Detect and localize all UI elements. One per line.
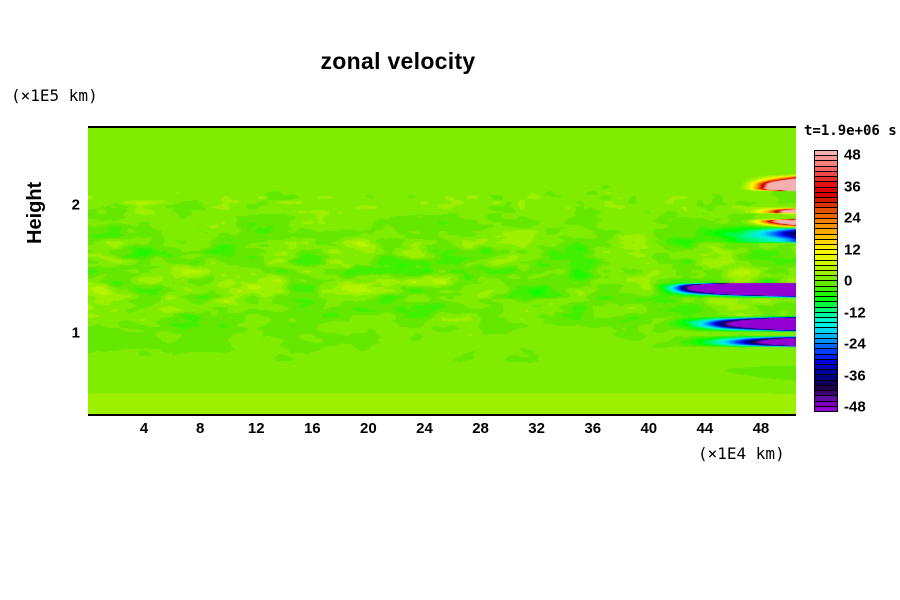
y-tick-label: 1 bbox=[72, 324, 80, 341]
colorbar-tick-label: -36 bbox=[844, 367, 866, 384]
colorbar-tick-label: -12 bbox=[844, 304, 866, 321]
colorbar-tick-label: -24 bbox=[844, 336, 866, 353]
x-tick-label: 48 bbox=[753, 420, 770, 437]
x-tick-label: 16 bbox=[304, 420, 321, 437]
x-tick-label: 24 bbox=[416, 420, 433, 437]
y-tick-label: 2 bbox=[72, 197, 80, 214]
x-axis-units-label: (×1E4 km) bbox=[698, 444, 785, 463]
x-tick-label: 36 bbox=[584, 420, 601, 437]
x-tick-label: 44 bbox=[697, 420, 714, 437]
colorbar-tick-label: 24 bbox=[844, 210, 861, 227]
heatmap-field bbox=[88, 128, 796, 414]
x-tick-label: 40 bbox=[640, 420, 657, 437]
colorbar-tick-label: 12 bbox=[844, 241, 861, 258]
x-tick-label: 8 bbox=[196, 420, 204, 437]
x-tick-label: 28 bbox=[472, 420, 489, 437]
x-tick-label: 4 bbox=[140, 420, 148, 437]
x-tick-label: 20 bbox=[360, 420, 377, 437]
heatmap-plot-area bbox=[88, 126, 796, 416]
colorbar-gradient-strip bbox=[814, 150, 838, 412]
x-tick-label: 32 bbox=[528, 420, 545, 437]
figure-canvas: zonal velocity (×1E5 km) Height 21 48121… bbox=[0, 0, 900, 600]
x-tick-label: 12 bbox=[248, 420, 265, 437]
y-axis-tick-labels: 21 bbox=[58, 0, 80, 600]
colorbar: t=1.9e+06 s 483624120-12-24-36-48 bbox=[804, 120, 900, 420]
colorbar-tick-label: 36 bbox=[844, 178, 861, 195]
colorbar-tick-label: 48 bbox=[844, 147, 861, 164]
colorbar-tick-label: -48 bbox=[844, 399, 866, 416]
colorbar-tick-label: 0 bbox=[844, 273, 852, 290]
colorbar-band bbox=[815, 407, 837, 411]
y-axis-title: Height bbox=[24, 222, 47, 244]
y-axis-units-label: (×1E5 km) bbox=[11, 86, 98, 105]
timestamp-annotation: t=1.9e+06 s bbox=[804, 123, 897, 139]
colorbar-tick-labels: 483624120-12-24-36-48 bbox=[844, 150, 900, 412]
page-title: zonal velocity bbox=[0, 48, 796, 75]
